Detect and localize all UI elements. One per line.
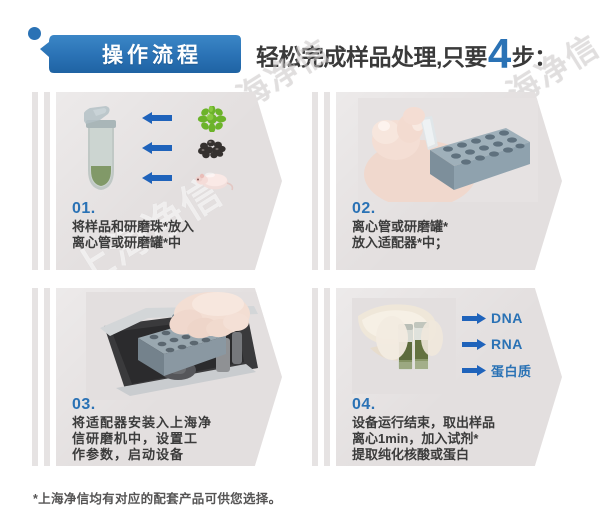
card-body: 上海净信 xyxy=(56,288,282,466)
step-card-02: 上海净信 xyxy=(312,92,562,270)
centrifuge-tube-icon xyxy=(84,104,118,196)
step-number: 04. xyxy=(352,396,552,413)
step-04-text-block: 04. 设备运行结束，取出样品 离心1min，加入试剂* 提取纯化核酸或蛋白 xyxy=(352,396,552,463)
card-accent-bar xyxy=(312,288,318,466)
card-body: 上海净信 xyxy=(336,288,562,466)
step-card-03: 上海净信 xyxy=(32,288,282,466)
section-tag-banner: 操作流程 xyxy=(40,33,242,75)
footnote: *上海净信均有对应的配套产品可供您选择。 xyxy=(33,488,281,507)
step-01-illustration xyxy=(56,96,282,200)
step-description: 离心管或研磨罐* 放入适配器*中； xyxy=(352,219,552,251)
step-description: 设备运行结束，取出样品 离心1min，加入试剂* 提取纯化核酸或蛋白 xyxy=(352,415,552,463)
installing-adapter-photo xyxy=(86,292,266,400)
grinding-beads-sample-icon xyxy=(190,136,234,162)
card-accent-bar xyxy=(44,288,50,466)
output-item-rna: RNA xyxy=(462,334,523,354)
card-accent-bar xyxy=(32,288,38,466)
headline-step-count: 4 xyxy=(488,37,511,71)
gloved-hand-with-tubes-photo xyxy=(352,298,456,394)
leaf-sample-icon xyxy=(190,106,234,132)
left-arrow-icon xyxy=(142,112,172,124)
right-arrow-icon xyxy=(462,313,486,324)
step-number: 01. xyxy=(72,200,272,217)
card-accent-bar xyxy=(324,92,330,270)
step-03-illustration xyxy=(56,292,282,396)
left-arrow-icon xyxy=(142,172,172,184)
card-body: 上海净信 xyxy=(56,92,282,270)
infographic-page: 操作流程 轻松完成样品处理,只要 4 步： 上海净信 上海净信 上海净信 xyxy=(0,0,600,526)
header: 操作流程 轻松完成样品处理,只要 4 步： xyxy=(0,0,600,86)
step-card-04: 上海净信 xyxy=(312,288,562,466)
headline-prefix: 轻松完成样品处理,只要 xyxy=(256,38,487,72)
card-body: 上海净信 xyxy=(336,92,562,270)
hand-holding-adapter-photo xyxy=(358,98,538,202)
output-label: DNA xyxy=(491,310,523,326)
step-description: 将样品和研磨珠*放入 离心管或研磨罐*中 xyxy=(72,219,272,251)
step-03-text-block: 03. 将适配器安装入上海净 信研磨机中，设置工 作参数，启动设备 xyxy=(72,396,272,463)
step-02-illustration xyxy=(336,96,562,200)
card-accent-bar xyxy=(44,92,50,270)
step-number: 03. xyxy=(72,396,272,413)
card-accent-bar xyxy=(32,92,38,270)
right-arrow-icon xyxy=(462,365,486,376)
step-description: 将适配器安装入上海净 信研磨机中，设置工 作参数，启动设备 xyxy=(72,415,272,463)
step-02-text-block: 02. 离心管或研磨罐* 放入适配器*中； xyxy=(352,200,552,251)
sample-inputs xyxy=(142,106,272,194)
step-number: 02. xyxy=(352,200,552,217)
mouse-sample-icon xyxy=(190,166,234,192)
card-accent-bar xyxy=(312,92,318,270)
header-headline: 轻松完成样品处理,只要 4 步： xyxy=(256,34,557,72)
step-04-output-list: DNA RNA 蛋白质 xyxy=(462,308,558,388)
output-item-dna: DNA xyxy=(462,308,523,328)
step-card-01: 上海净信 xyxy=(32,92,282,270)
card-accent-bar xyxy=(324,288,330,466)
output-item-protein: 蛋白质 xyxy=(462,360,532,380)
left-arrow-icon xyxy=(142,142,172,154)
step-04-illustration: DNA RNA 蛋白质 xyxy=(336,292,562,396)
step-01-text-block: 01. 将样品和研磨珠*放入 离心管或研磨罐*中 xyxy=(72,200,272,251)
section-tag-label: 操作流程 xyxy=(40,33,242,75)
right-arrow-icon xyxy=(462,339,486,350)
output-label: 蛋白质 xyxy=(491,361,532,380)
headline-suffix: 步： xyxy=(512,38,557,72)
output-label: RNA xyxy=(491,336,523,352)
